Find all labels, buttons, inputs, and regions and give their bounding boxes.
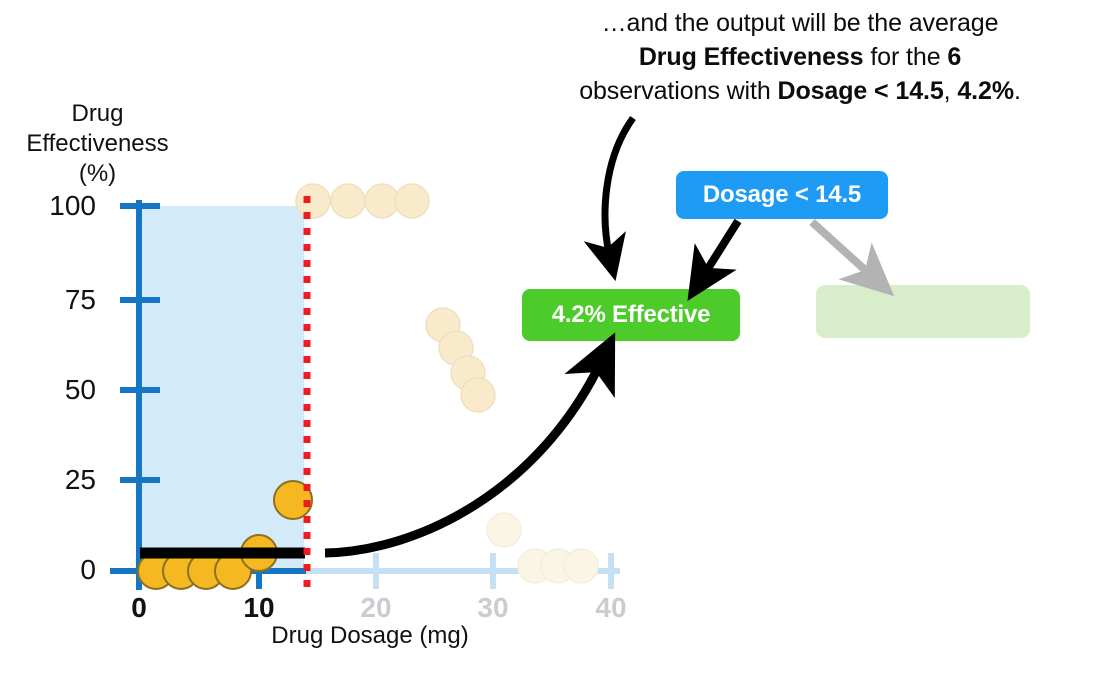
- data-point: [138, 553, 174, 589]
- caption-line-3-start: observations with: [579, 77, 777, 105]
- tree-node-root-label: Dosage < 14.5: [703, 181, 861, 209]
- y-axis-title-line-3: (%): [10, 159, 185, 189]
- x-axis-dim: [304, 553, 620, 589]
- x-tick-label-40: 40: [581, 592, 641, 624]
- x-tick-label-30: 30: [463, 592, 523, 624]
- data-point: [241, 535, 277, 571]
- caption-bold-six: 6: [947, 43, 961, 71]
- caption-comma: ,: [944, 77, 958, 105]
- chart-to-leaf-arrow: [325, 360, 602, 553]
- caption-line-1: …and the output will be the average: [602, 9, 999, 37]
- caption-period: .: [1014, 77, 1021, 105]
- data-point: [215, 553, 251, 589]
- tree-node-leaf-right-empty[interactable]: [816, 285, 1030, 338]
- y-axis-title-line-2: Effectiveness: [10, 129, 185, 159]
- data-point: [188, 553, 224, 589]
- x-tick-label-0: 0: [109, 592, 169, 624]
- x-tick-label-10: 10: [229, 592, 289, 624]
- split-region-highlight: [139, 206, 304, 571]
- y-axis-title: Drug Effectiveness (%): [10, 99, 185, 189]
- y-tick-label-0: 0: [6, 554, 96, 586]
- y-axis-title-line-1: Drug: [10, 99, 185, 129]
- y-tick-label-75: 75: [6, 284, 96, 316]
- caption-bold-percent: 4.2%: [957, 77, 1014, 105]
- caption-text: …and the output will be the average Drug…: [500, 6, 1100, 108]
- data-points-highlighted[interactable]: [138, 481, 312, 589]
- data-point: [163, 553, 199, 589]
- y-tick-label-25: 25: [6, 464, 96, 496]
- data-points-faded: [296, 184, 598, 583]
- x-tick-label-20: 20: [346, 592, 406, 624]
- caption-bold-dosage-threshold: Dosage < 14.5: [778, 77, 944, 105]
- x-axis-title: Drug Dosage (mg): [180, 622, 560, 650]
- data-point: [274, 481, 312, 519]
- tree-node-root[interactable]: Dosage < 14.5: [676, 171, 888, 219]
- slide-canvas: …and the output will be the average Drug…: [0, 0, 1105, 674]
- tree-node-leaf-left[interactable]: 4.2% Effective: [522, 289, 740, 341]
- caption-line-2-mid: for the: [863, 43, 947, 71]
- y-axis-line: [120, 200, 160, 590]
- caption-to-leaf-arrow: [605, 118, 633, 258]
- tree-node-leaf-left-label: 4.2% Effective: [552, 301, 711, 329]
- x-axis-line: [110, 553, 306, 589]
- y-tick-label-100: 100: [6, 190, 96, 222]
- y-tick-label-50: 50: [6, 374, 96, 406]
- caption-bold-drug-effectiveness: Drug Effectiveness: [639, 43, 864, 71]
- root-to-left-leaf-arrow: [702, 221, 738, 278]
- root-to-right-leaf-arrow: [812, 222, 874, 278]
